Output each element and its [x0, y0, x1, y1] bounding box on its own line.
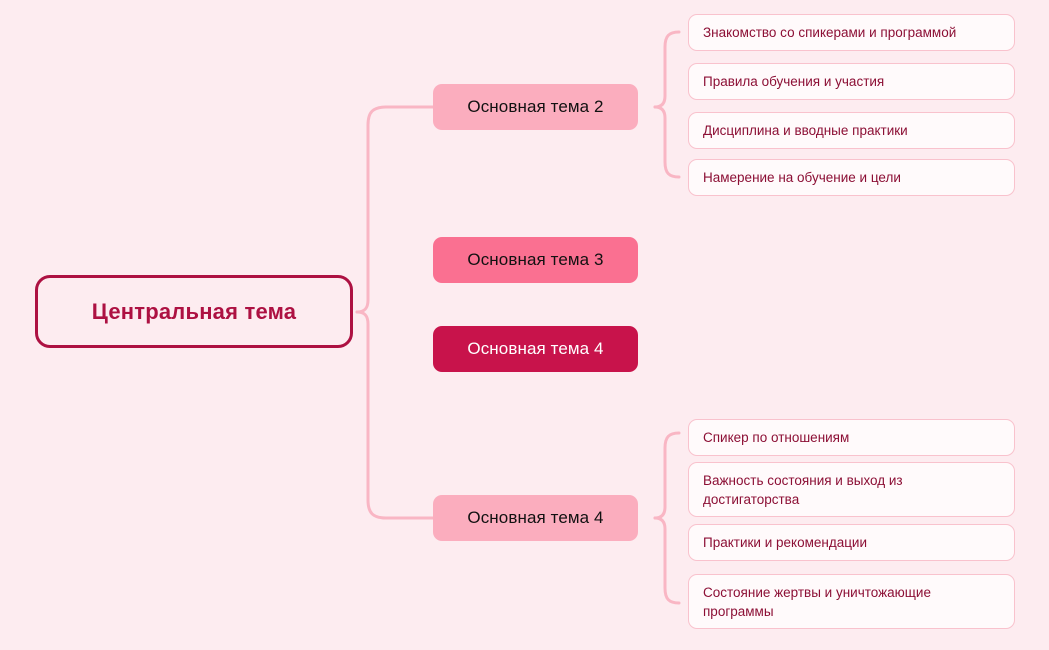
brace-central-lower	[357, 312, 386, 518]
main-topic-node-1[interactable]: Основная тема 2	[433, 84, 638, 130]
subtopic-label-4-1: Спикер по отношениям	[703, 428, 849, 447]
main-topic-node-2[interactable]: Основная тема 3	[433, 237, 638, 283]
subtopic-card-1-4[interactable]: Намерение на обучение и цели	[688, 159, 1015, 196]
subtopic-card-1-2[interactable]: Правила обучения и участия	[688, 63, 1015, 100]
subtopic-card-1-1[interactable]: Знакомство со спикерами и программой	[688, 14, 1015, 51]
brace-topic1-lower	[655, 107, 679, 177]
subtopic-card-4-1[interactable]: Спикер по отношениям	[688, 419, 1015, 456]
mindmap-canvas: Центральная тема Основная тема 2 Основна…	[0, 0, 1049, 650]
subtopic-label-1-1: Знакомство со спикерами и программой	[703, 23, 956, 42]
subtopic-card-4-4[interactable]: Состояние жертвы и уничтожающие программ…	[688, 574, 1015, 629]
brace-topic1-upper	[655, 32, 679, 107]
subtopic-card-4-3[interactable]: Практики и рекомендации	[688, 524, 1015, 561]
central-topic-node[interactable]: Центральная тема	[35, 275, 353, 348]
brace-central-upper	[357, 107, 386, 312]
subtopic-card-4-2[interactable]: Важность состояния и выход из достигатор…	[688, 462, 1015, 517]
main-topic-node-4[interactable]: Основная тема 4	[433, 495, 638, 541]
main-topic-label-3: Основная тема 4	[467, 339, 603, 359]
subtopic-label-1-4: Намерение на обучение и цели	[703, 168, 901, 187]
subtopic-label-4-2: Важность состояния и выход из достигатор…	[703, 471, 1000, 509]
main-topic-node-3[interactable]: Основная тема 4	[433, 326, 638, 372]
subtopic-label-1-2: Правила обучения и участия	[703, 72, 884, 91]
main-topic-label-2: Основная тема 3	[467, 250, 603, 270]
brace-topic4-upper	[655, 433, 679, 518]
main-topic-label-1: Основная тема 2	[467, 97, 603, 117]
subtopic-label-4-4: Состояние жертвы и уничтожающие программ…	[703, 583, 1000, 621]
main-topic-label-4: Основная тема 4	[467, 508, 603, 528]
subtopic-label-4-3: Практики и рекомендации	[703, 533, 867, 552]
brace-topic4-lower	[655, 518, 679, 603]
subtopic-card-1-3[interactable]: Дисциплина и вводные практики	[688, 112, 1015, 149]
central-topic-label: Центральная тема	[92, 299, 296, 325]
subtopic-label-1-3: Дисциплина и вводные практики	[703, 121, 908, 140]
